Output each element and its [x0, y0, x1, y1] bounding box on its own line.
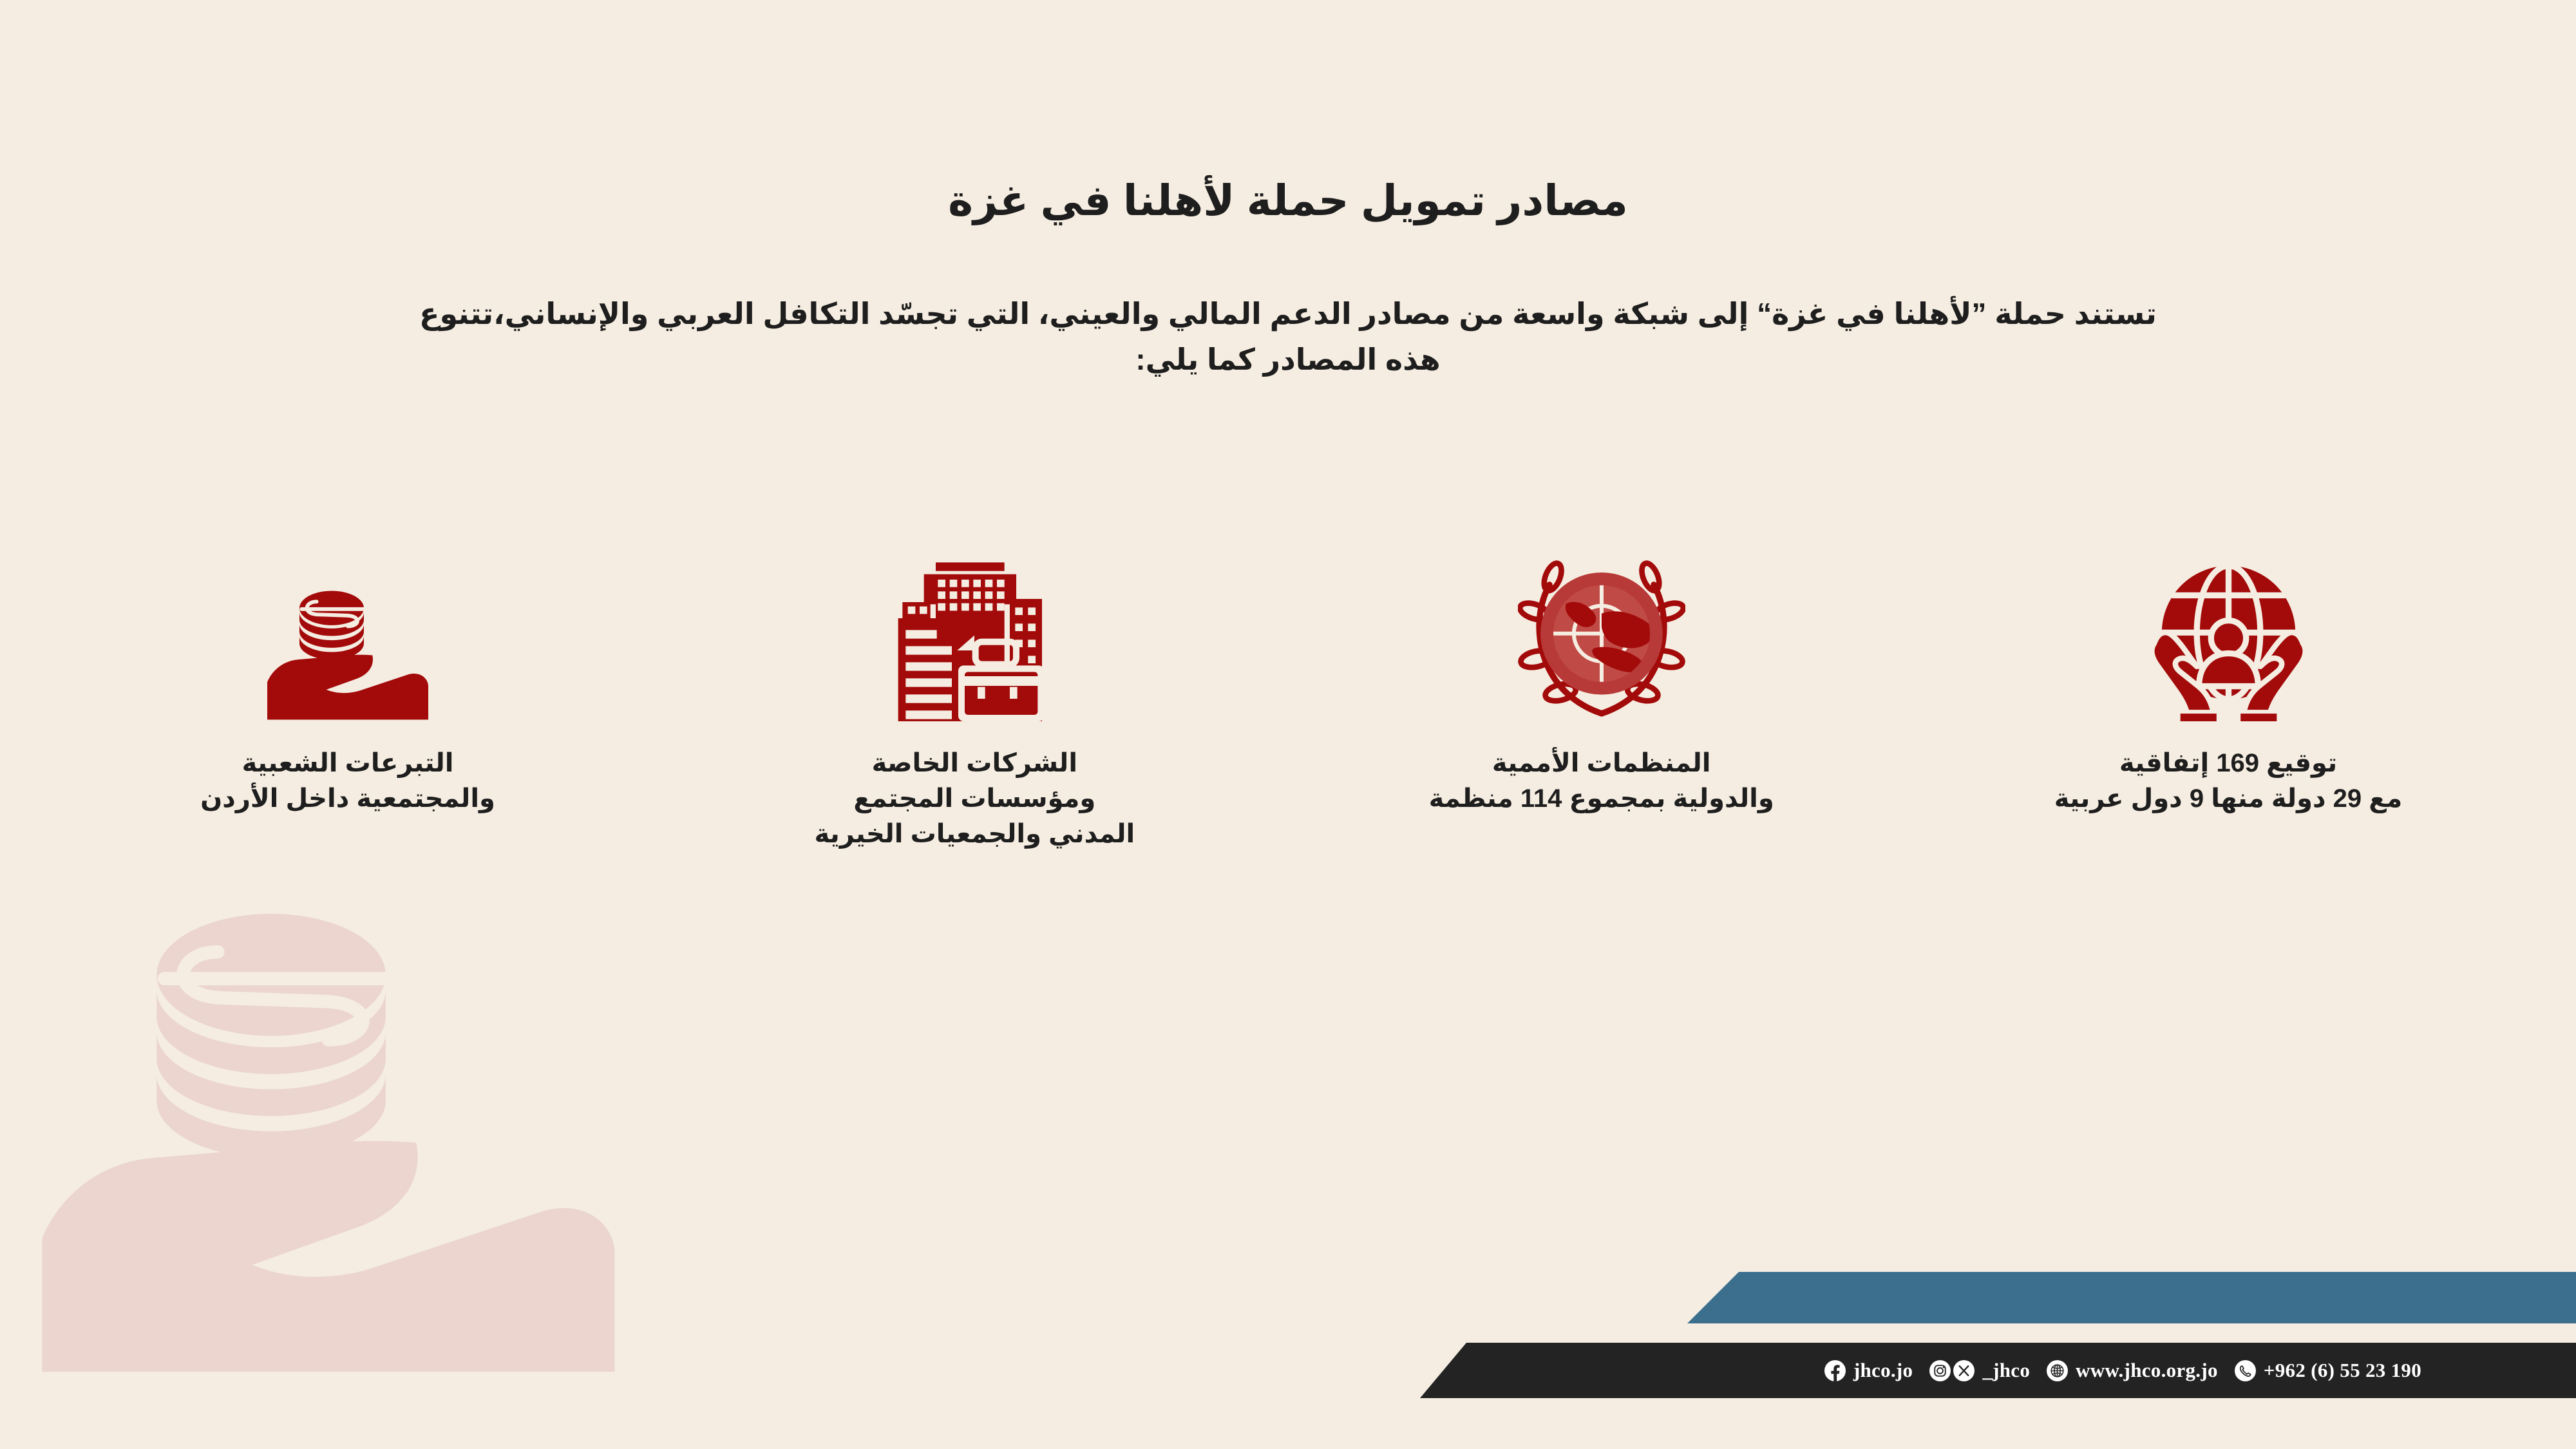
globe-icon — [2047, 1360, 2068, 1381]
instagram-icon[interactable] — [1929, 1360, 1951, 1381]
card-bilateral-agreements: توقيع 169 إتفاقية مع 29 دولة منها 9 دول … — [1977, 528, 2479, 817]
card-label-line: توقيع 169 إتفاقية — [2054, 746, 2403, 781]
phone-icon — [2235, 1360, 2256, 1381]
hand-coins-icon — [267, 528, 428, 721]
intro-line-1: تستند حملة ”لأهلنا في غزة“ إلى شبكة واسع… — [97, 291, 2479, 337]
intro-line-2: هذه المصادر كما يلي: — [97, 337, 2479, 383]
card-label: التبرعات الشعبية والمجتمعية داخل الأردن — [200, 746, 495, 817]
card-label: المنظمات الأممية والدولية بمجموع 114 منظ… — [1429, 746, 1774, 817]
buildings-briefcase-icon — [894, 528, 1055, 721]
x-twitter-icon[interactable] — [1953, 1360, 1975, 1381]
card-label-line: مع 29 دولة منها 9 دول عربية — [2054, 781, 2403, 817]
funding-sources-row: التبرعات الشعبية والمجتمعية داخل الأردن — [97, 528, 2479, 853]
card-label-line: ومؤسسات المجتمع — [814, 781, 1135, 817]
globe-hands-icon — [2146, 528, 2311, 721]
phone-number: +962 (6) 55 23 190 — [2264, 1359, 2421, 1382]
card-label-line: الشركات الخاصة — [814, 746, 1135, 781]
card-private-companies: الشركات الخاصة ومؤسسات المجتمع المدني وا… — [723, 528, 1226, 853]
infographic-canvas: مصادر تمويل حملة لأهلنا في غزة تستند حمل… — [0, 0, 2576, 1449]
contact-website[interactable]: www.jhco.org.jo — [2047, 1359, 2218, 1382]
card-label-line: والمجتمعية داخل الأردن — [200, 781, 495, 817]
watermark-hand-coins-icon — [39, 857, 618, 1372]
card-label: توقيع 169 إتفاقية مع 29 دولة منها 9 دول … — [2054, 746, 2403, 817]
card-label-line: المدني والجمعيات الخيرية — [814, 817, 1135, 852]
card-label-line: التبرعات الشعبية — [200, 746, 495, 781]
page-title: مصادر تمويل حملة لأهلنا في غزة — [0, 175, 2576, 226]
facebook-handle: jhco.jo — [1853, 1359, 1913, 1382]
contact-facebook[interactable]: jhco.jo — [1824, 1359, 1913, 1382]
facebook-icon[interactable] — [1824, 1360, 1846, 1381]
card-label: الشركات الخاصة ومؤسسات المجتمع المدني وا… — [814, 746, 1135, 853]
social-icon-group — [1929, 1360, 1975, 1381]
card-label-line: والدولية بمجموع 114 منظمة — [1429, 781, 1774, 817]
contact-phone[interactable]: +962 (6) 55 23 190 — [2235, 1359, 2421, 1382]
un-emblem-icon — [1518, 528, 1685, 721]
card-un-organizations: المنظمات الأممية والدولية بمجموع 114 منظ… — [1350, 528, 1853, 817]
card-label-line: المنظمات الأممية — [1429, 746, 1774, 781]
card-popular-donations: التبرعات الشعبية والمجتمعية داخل الأردن — [97, 528, 599, 817]
footer-contact-strip: +962 (6) 55 23 190 www.jhco.org.jo — [1420, 1343, 2576, 1398]
intro-paragraph: تستند حملة ”لأهلنا في غزة“ إلى شبكة واسع… — [97, 291, 2479, 383]
social-handle: _jhco — [1982, 1359, 2030, 1382]
accent-blue-bar — [1687, 1272, 2576, 1323]
contact-social[interactable]: _jhco — [1929, 1359, 2030, 1382]
website-url: www.jhco.org.jo — [2076, 1359, 2218, 1382]
